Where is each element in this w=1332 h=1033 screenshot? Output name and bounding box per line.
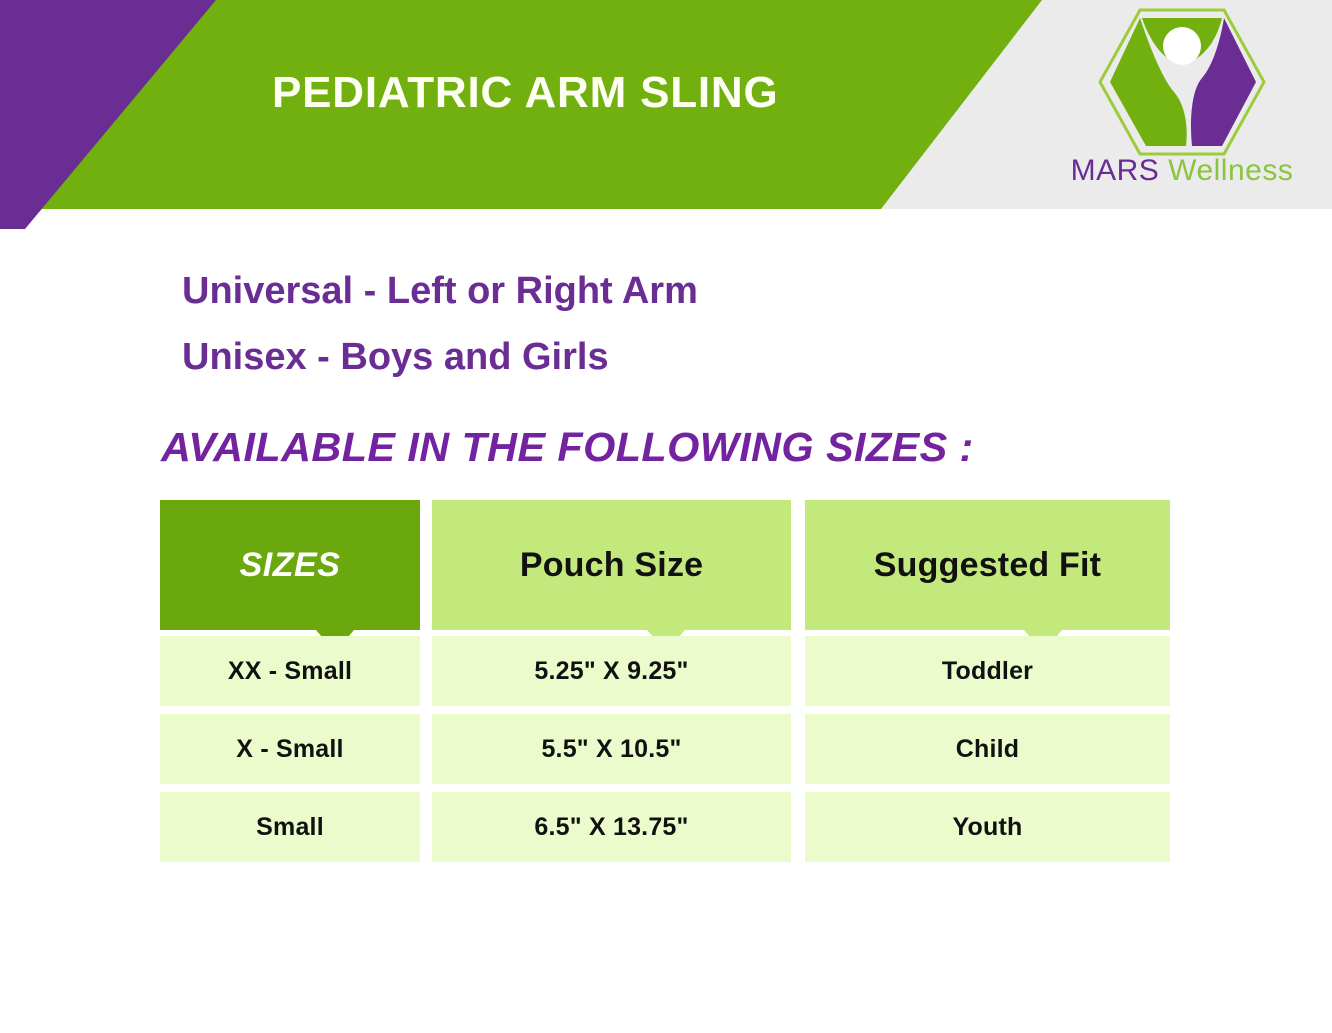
table-row: XX - Small 5.25" X 9.25" Toddler — [160, 636, 1170, 706]
brand-name-primary: MARS — [1071, 154, 1160, 187]
brand-name: MARS Wellness — [1052, 154, 1312, 188]
cell-size: X - Small — [160, 714, 420, 784]
cell-pouch-size: 6.5" X 13.75" — [432, 792, 791, 862]
page-header: PEDIATRIC ARM SLING MARS Wellness — [0, 0, 1332, 232]
cell-pouch-size: 5.25" X 9.25" — [432, 636, 791, 706]
table-header-pouch-size: Pouch Size — [432, 500, 791, 630]
table-header-sizes: SIZES — [160, 500, 420, 630]
cell-size: XX - Small — [160, 636, 420, 706]
size-table: SIZES Pouch Size Suggested Fit XX - Smal… — [160, 500, 1170, 860]
intro-text-block: Universal - Left or Right Arm Unisex - B… — [182, 258, 698, 390]
table-header-suggested-fit: Suggested Fit — [805, 500, 1170, 630]
cell-suggested-fit: Toddler — [805, 636, 1170, 706]
table-header-pouch-size-label: Pouch Size — [520, 546, 703, 585]
cell-suggested-fit: Child — [805, 714, 1170, 784]
table-header-sizes-label: SIZES — [240, 546, 341, 585]
intro-line-unisex: Unisex - Boys and Girls — [182, 324, 698, 390]
table-header-suggested-fit-label: Suggested Fit — [874, 546, 1101, 585]
sizing-chart-page: PEDIATRIC ARM SLING MARS Wellness Univer… — [0, 0, 1332, 1033]
cell-size: Small — [160, 792, 420, 862]
brand-logo: MARS Wellness — [1052, 8, 1312, 198]
table-header-row: SIZES Pouch Size Suggested Fit — [160, 500, 1170, 630]
page-title: PEDIATRIC ARM SLING — [272, 68, 779, 118]
cell-pouch-size: 5.5" X 10.5" — [432, 714, 791, 784]
intro-line-universal: Universal - Left or Right Arm — [182, 258, 698, 324]
cell-suggested-fit: Youth — [805, 792, 1170, 862]
available-sizes-heading: AVAILABLE IN THE FOLLOWING SIZES : — [161, 424, 974, 471]
table-row: X - Small 5.5" X 10.5" Child — [160, 714, 1170, 784]
table-row: Small 6.5" X 13.75" Youth — [160, 792, 1170, 862]
brand-name-secondary: Wellness — [1168, 154, 1293, 187]
hexagon-person-icon — [1098, 8, 1266, 156]
